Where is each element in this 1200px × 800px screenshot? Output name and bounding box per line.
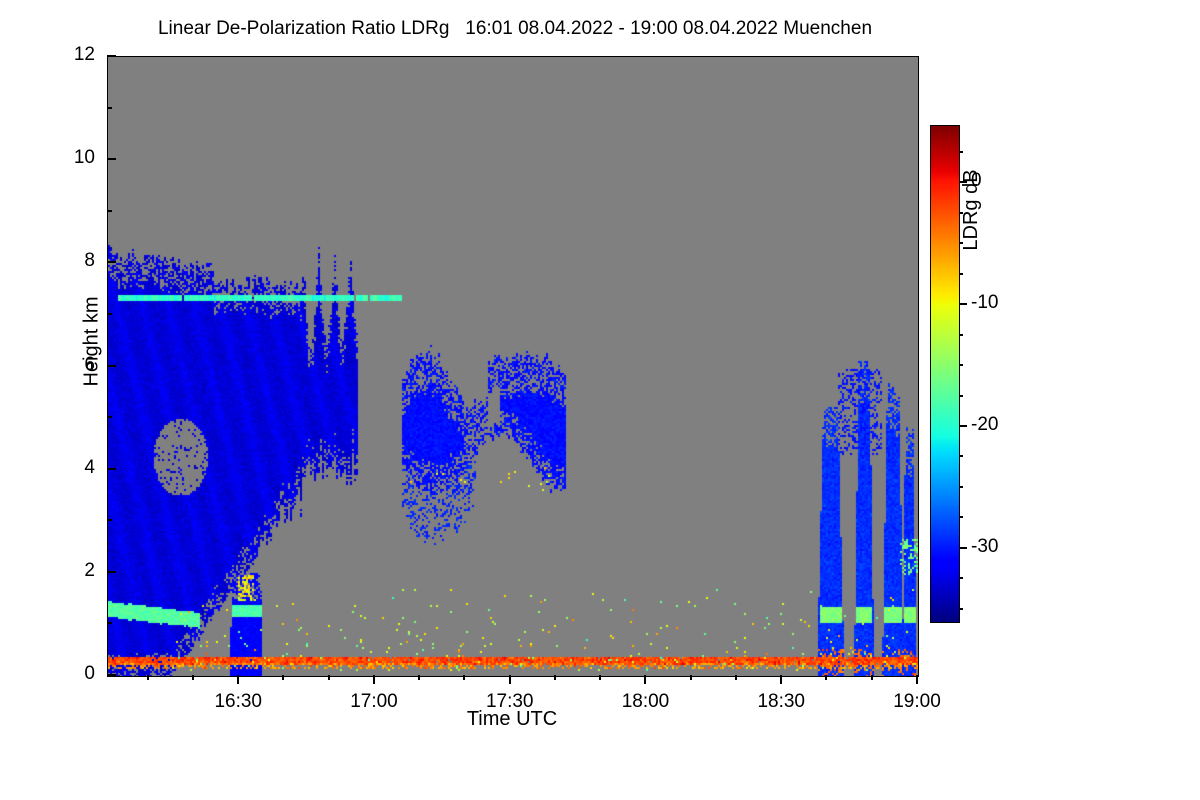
y-axis-title: Height km bbox=[81, 242, 104, 442]
x-tick-minor bbox=[328, 675, 330, 680]
x-tick-major bbox=[509, 675, 511, 684]
colorbar bbox=[930, 125, 958, 621]
y-tick-minor bbox=[107, 519, 112, 521]
y-tick-minor bbox=[107, 313, 112, 315]
x-tick-minor bbox=[192, 675, 194, 680]
y-tick-major bbox=[107, 55, 116, 57]
y-tick-label: 4 bbox=[55, 457, 95, 479]
heatmap-plot-area bbox=[107, 56, 919, 677]
colorbar-tick-minor bbox=[959, 364, 963, 366]
colorbar-tick-minor bbox=[959, 334, 963, 336]
x-tick-minor bbox=[690, 675, 692, 680]
colorbar-tick-major bbox=[959, 425, 967, 427]
y-tick-minor bbox=[107, 416, 112, 418]
colorbar-tick-major bbox=[959, 547, 967, 549]
y-tick-major bbox=[107, 468, 116, 470]
colorbar-tick-minor bbox=[959, 455, 963, 457]
x-tick-minor bbox=[147, 675, 149, 680]
heatmap-canvas bbox=[108, 57, 918, 676]
chart-title: Linear De-Polarization Ratio LDRg 16:01 … bbox=[0, 18, 1030, 40]
colorbar-title: LDRg dB bbox=[960, 110, 983, 310]
x-tick-major bbox=[780, 675, 782, 684]
chart-figure: Linear De-Polarization Ratio LDRg 16:01 … bbox=[0, 0, 1200, 800]
y-tick-label: 10 bbox=[55, 147, 95, 169]
colorbar-tick-minor bbox=[959, 395, 963, 397]
y-tick-label: 0 bbox=[55, 663, 95, 685]
colorbar-tick-minor bbox=[959, 577, 963, 579]
colorbar-gradient bbox=[930, 125, 960, 623]
x-tick-minor bbox=[418, 675, 420, 680]
y-tick-minor bbox=[107, 107, 112, 109]
y-tick-label: 12 bbox=[55, 44, 95, 66]
colorbar-tick-minor bbox=[959, 608, 963, 610]
x-tick-minor bbox=[554, 675, 556, 680]
x-tick-major bbox=[644, 675, 646, 684]
x-tick-minor bbox=[871, 675, 873, 680]
y-tick-minor bbox=[107, 622, 112, 624]
x-tick-minor bbox=[599, 675, 601, 680]
x-tick-major bbox=[237, 675, 239, 684]
colorbar-tick-label: -30 bbox=[971, 536, 998, 558]
y-tick-major bbox=[107, 158, 116, 160]
y-tick-major bbox=[107, 365, 116, 367]
x-tick-major bbox=[916, 675, 918, 684]
x-tick-minor bbox=[735, 675, 737, 680]
colorbar-tick-minor bbox=[959, 486, 963, 488]
x-tick-major bbox=[373, 675, 375, 684]
y-tick-major bbox=[107, 674, 116, 676]
y-tick-major bbox=[107, 261, 116, 263]
x-tick-minor bbox=[825, 675, 827, 680]
y-tick-minor bbox=[107, 210, 112, 212]
y-tick-label: 2 bbox=[55, 560, 95, 582]
colorbar-tick-minor bbox=[959, 516, 963, 518]
y-tick-major bbox=[107, 571, 116, 573]
x-axis-title: Time UTC bbox=[107, 708, 917, 731]
colorbar-tick-label: -20 bbox=[971, 414, 998, 436]
x-tick-minor bbox=[282, 675, 284, 680]
x-tick-minor bbox=[463, 675, 465, 680]
